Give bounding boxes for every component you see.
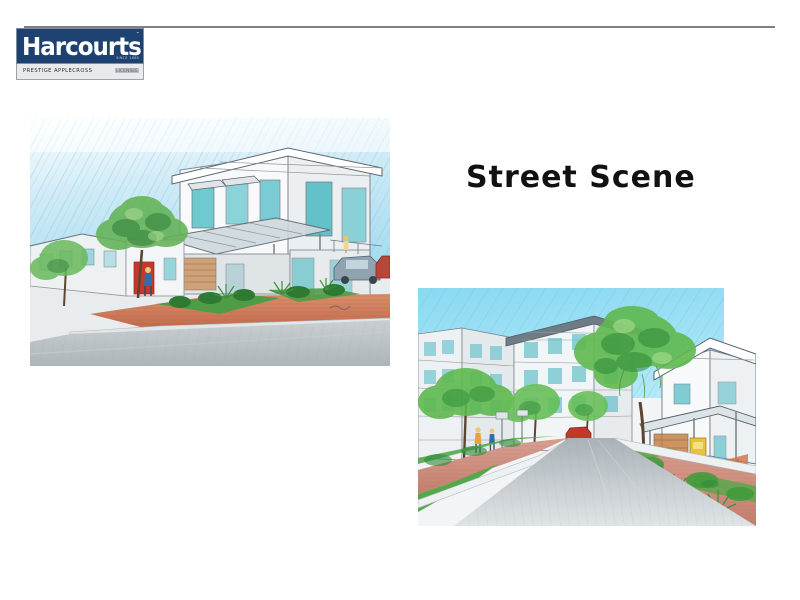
logo-office-text: PRESTIGE APPLECROSS <box>23 68 92 74</box>
logo-office-block: PRESTIGE APPLECROSS LICENSEE <box>16 64 144 80</box>
logo-licensee-text: LICENSEE <box>115 68 139 73</box>
logo-since-text: SINCE 1888 <box>116 56 139 60</box>
architectural-rendering-street-corner <box>30 118 390 366</box>
harcourts-logo: Harcourts ™ SINCE 1888 PRESTIGE APPLECRO… <box>16 28 144 80</box>
slide-title: Street Scene <box>466 160 696 195</box>
presentation-slide: Harcourts ™ SINCE 1888 PRESTIGE APPLECRO… <box>0 0 800 600</box>
logo-trademark: ™ <box>136 31 140 36</box>
architectural-rendering-street-perspective <box>418 288 756 526</box>
logo-brand-block: Harcourts ™ SINCE 1888 <box>16 28 144 64</box>
